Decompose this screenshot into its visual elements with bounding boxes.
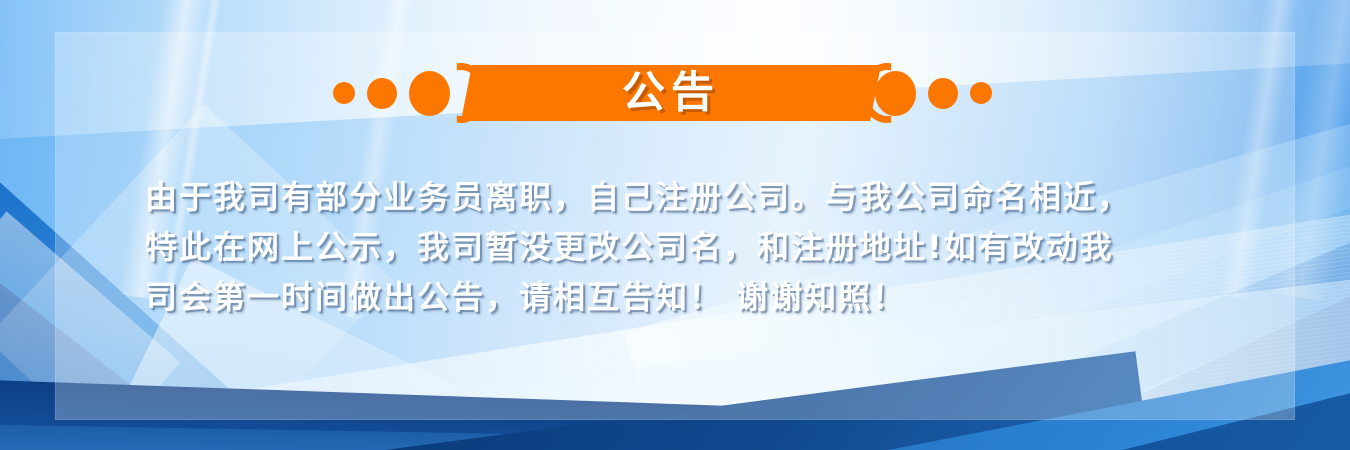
notice-line: 司会第一时间做出公告，请相互告知！ 谢谢知照！ bbox=[145, 272, 1235, 322]
circle-medium-icon bbox=[928, 78, 958, 109]
notice-line: 特此在网上公示，我司暂没更改公司名，和注册地址!如有改动我 bbox=[145, 222, 1235, 272]
page-title: 公告 bbox=[461, 60, 881, 126]
right-dot-decoration bbox=[875, 50, 992, 136]
content-panel: 公告 由于我司有部分业务员离职，自己注册公司。与我公司命名相近， 特此在网上公示… bbox=[55, 32, 1295, 420]
circle-large-icon bbox=[409, 71, 450, 116]
banner-heading: 公告 bbox=[55, 50, 1295, 136]
announcement-banner: 公告 由于我司有部分业务员离职，自己注册公司。与我公司命名相近， 特此在网上公示… bbox=[0, 0, 1350, 450]
notice-text-block: 由于我司有部分业务员离职，自己注册公司。与我公司命名相近， 特此在网上公示，我司… bbox=[145, 172, 1235, 322]
circle-medium-icon bbox=[367, 78, 397, 109]
background-wedge-5 bbox=[0, 424, 641, 450]
left-dot-decoration bbox=[333, 50, 450, 136]
notice-line: 由于我司有部分业务员离职，自己注册公司。与我公司命名相近， bbox=[145, 172, 1235, 222]
circle-small-icon bbox=[970, 82, 992, 104]
circle-small-icon bbox=[333, 82, 355, 104]
circle-large-icon bbox=[875, 71, 916, 116]
